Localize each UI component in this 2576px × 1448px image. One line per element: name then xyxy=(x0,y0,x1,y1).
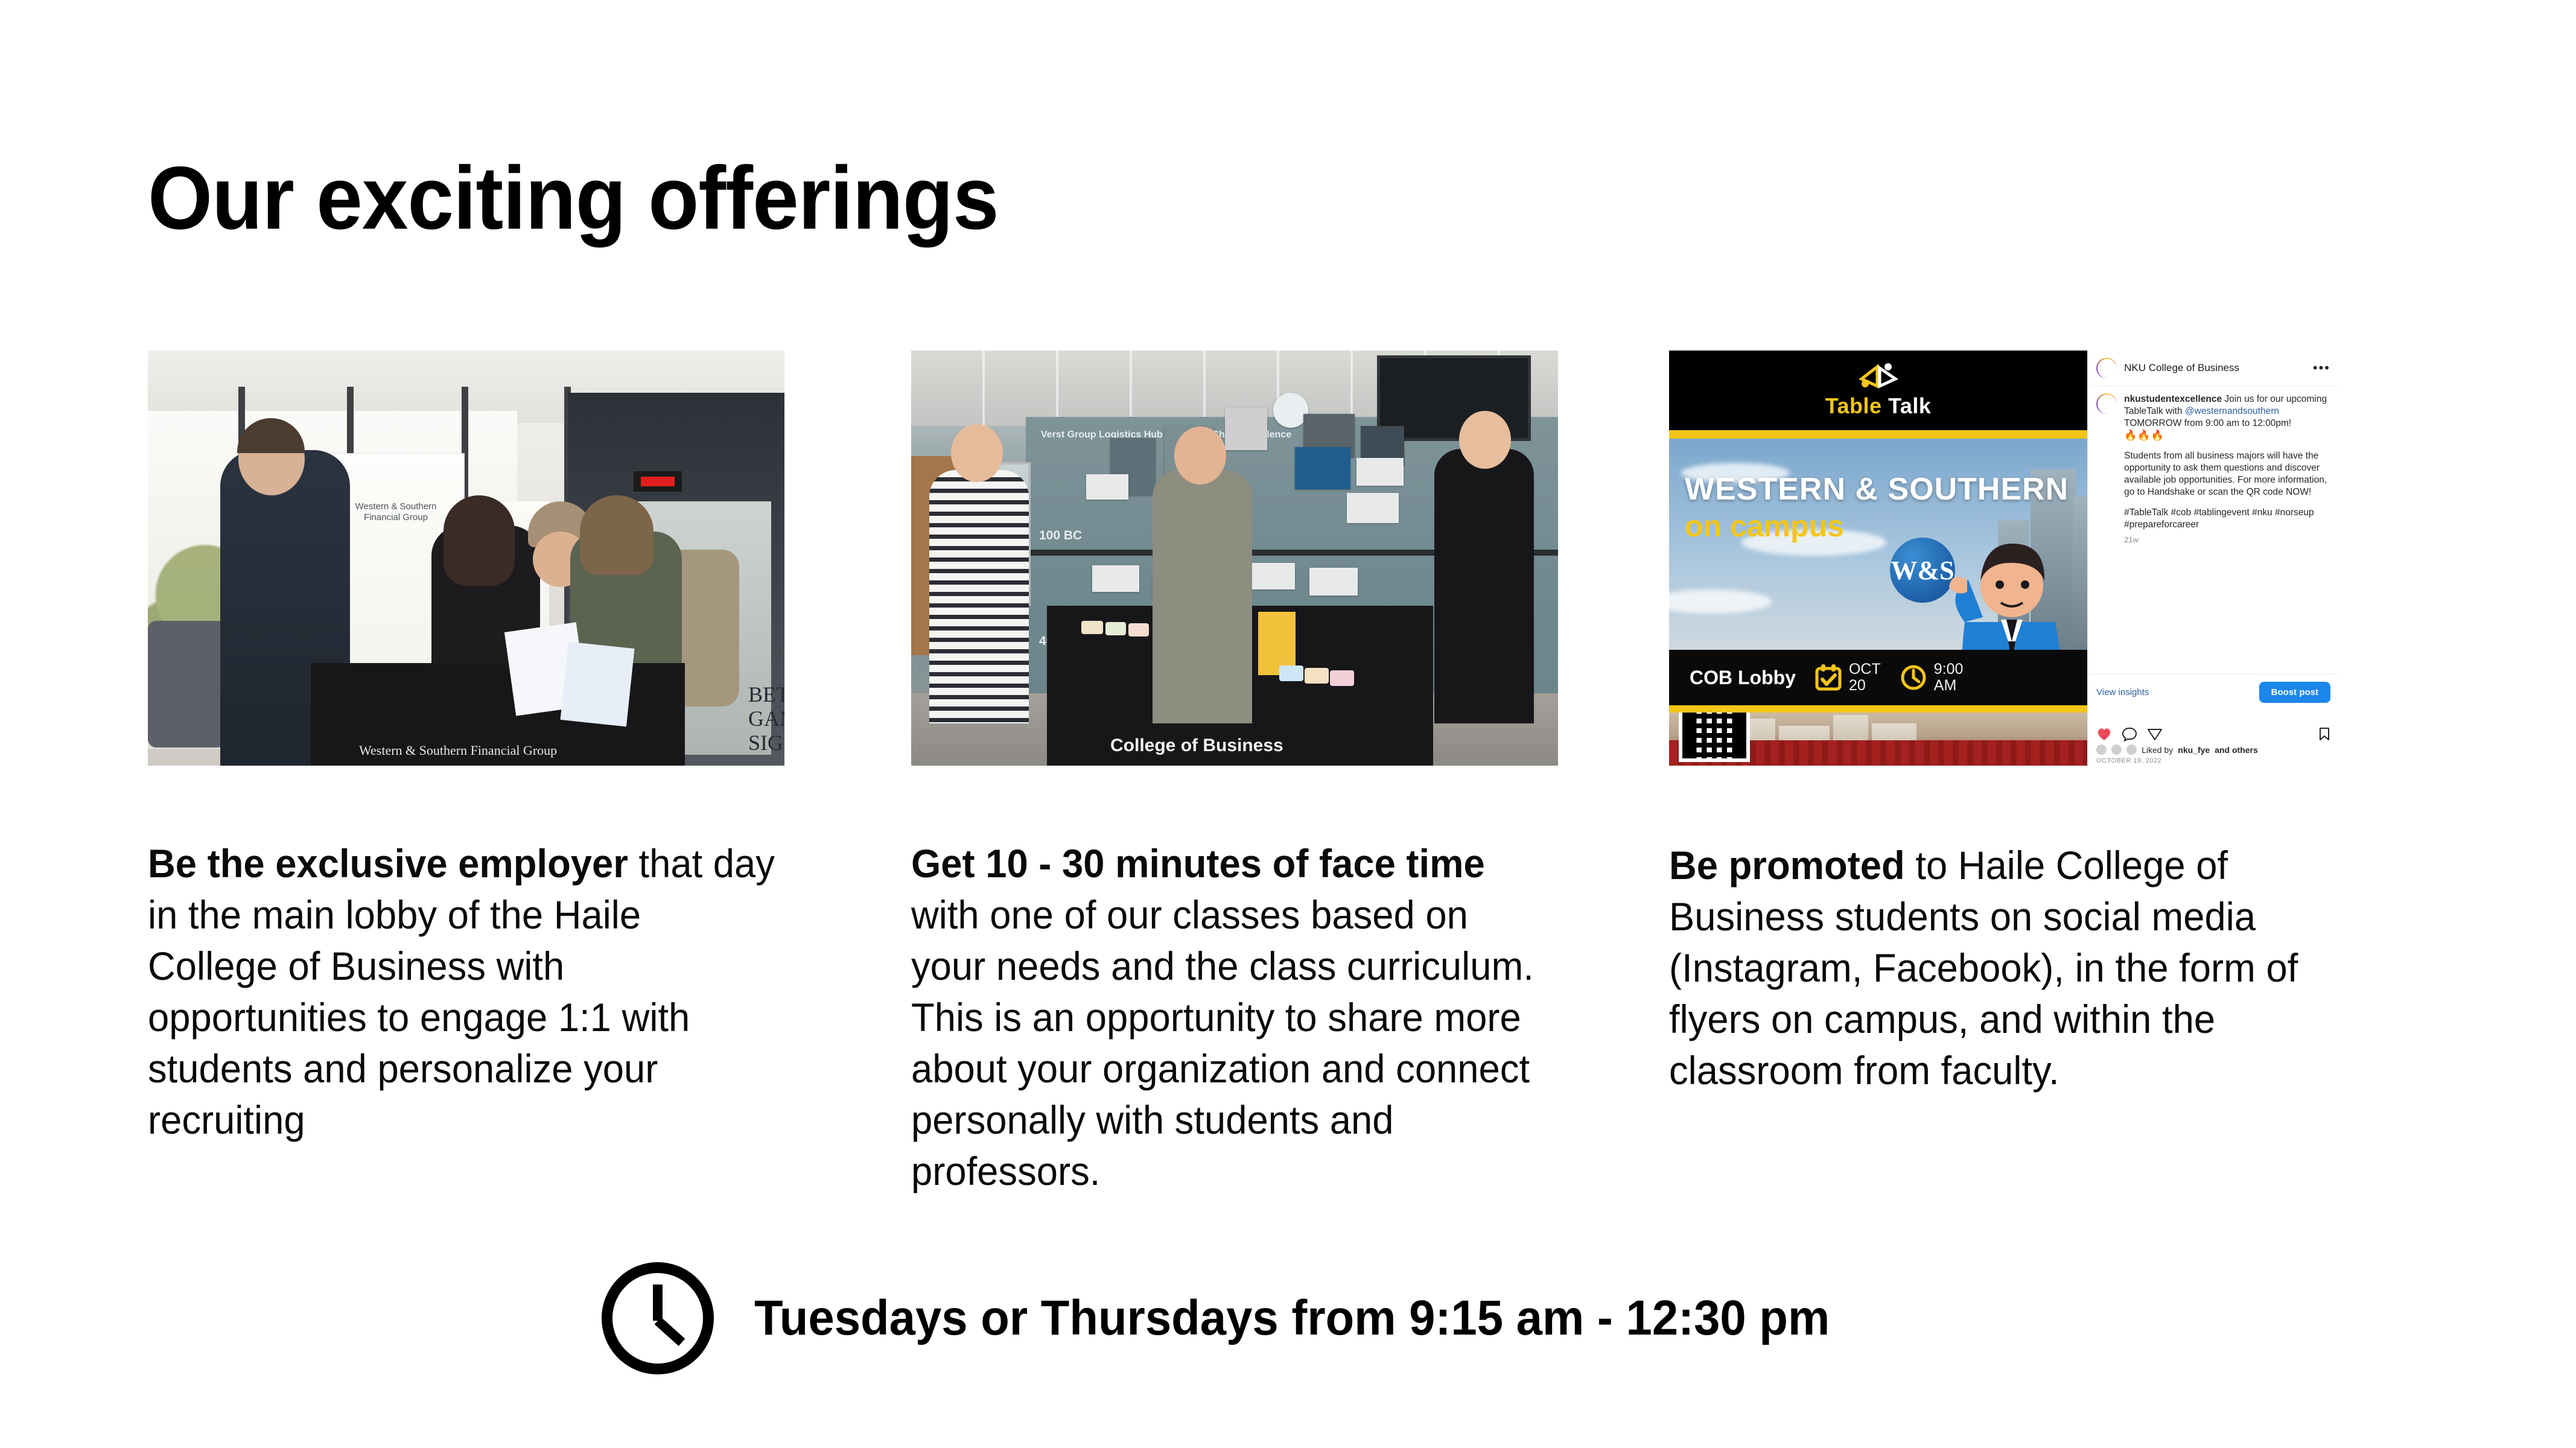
flyer-logo-text: Table Talk xyxy=(1825,393,1932,419)
table-logo-text: Western & Southern Financial Group xyxy=(359,743,557,758)
offering-caption-3: Be promoted to Haile College of Business… xyxy=(1669,840,2353,1096)
offering-column-3: Table Talk WESTERN & SOUTHERN xyxy=(1669,351,2339,1096)
instagram-flyer-screenshot: Table Talk WESTERN & SOUTHERN xyxy=(1669,351,2339,766)
table-talk-logo-icon xyxy=(1857,362,1900,391)
table-talk-flyer: Table Talk WESTERN & SOUTHERN xyxy=(1669,351,2087,766)
instagram-caption-part-2: TOMORROW from 9:00 am to 12:00pm! xyxy=(2124,418,2291,428)
heart-icon[interactable] xyxy=(2096,727,2112,741)
avatar xyxy=(2096,745,2107,755)
flyer-city-photo xyxy=(1669,713,2087,766)
offering-column-2: Verst Group Logistics Hub of Supply Chai… xyxy=(911,351,1558,1197)
instagram-mention[interactable]: @westernandsouthern xyxy=(2185,406,2279,416)
flyer-logo-talk: Talk xyxy=(1888,393,1931,418)
view-insights-link[interactable]: View insights xyxy=(2096,687,2149,697)
instagram-caption-block: nkustudentexcellence Join us for our upc… xyxy=(2088,386,2339,544)
flyer-time-value: 9:00 xyxy=(1934,661,1964,678)
flyer-subhead: on campus xyxy=(1685,509,1844,544)
caption-lead-2: Get 10 - 30 minutes of face time xyxy=(911,841,1485,886)
instagram-post-age: 21w xyxy=(2124,535,2330,544)
calendar-icon xyxy=(1815,664,1842,691)
avatar xyxy=(2096,393,2117,414)
banner-label-2: BETA GAMMA SIGMA xyxy=(748,682,784,755)
avatar xyxy=(2111,745,2122,755)
instagram-insights-row: View insights Boost post xyxy=(2088,674,2339,710)
caption-body-1: that day in the main lobby of the Haile … xyxy=(148,841,775,1142)
instagram-caption: nkustudentexcellence Join us for our upc… xyxy=(2124,393,2330,442)
flyer-date-day: 20 xyxy=(1849,678,1881,694)
flyer-time-period: AM xyxy=(1934,678,1964,694)
clock-icon xyxy=(597,1258,718,1379)
flyer-header: Table Talk xyxy=(1669,351,2087,430)
offering-caption-1: Be the exclusive employer that day in th… xyxy=(148,838,779,1146)
instagram-emojis: 🔥🔥🔥 xyxy=(2124,430,2330,442)
flyer-accent-rule xyxy=(1669,430,2087,439)
classroom-tabling-photo: Verst Group Logistics Hub of Supply Chai… xyxy=(911,351,1558,766)
avatar xyxy=(2096,358,2117,378)
instagram-body-text: Students from all business majors will h… xyxy=(2124,450,2330,498)
flyer-accent-rule-2 xyxy=(1669,705,2087,713)
qr-code xyxy=(1679,713,1750,762)
flyer-date: OCT 20 xyxy=(1849,661,1881,694)
instagram-post-date: OCTOBER 19, 2022 xyxy=(2096,757,2161,764)
tablecloth-text: College of Business xyxy=(1110,735,1283,756)
banner-label: Western & Southern Financial Group xyxy=(339,501,453,523)
more-options-icon[interactable]: ••• xyxy=(2313,365,2330,371)
instagram-post-panel: NKU College of Business ••• nkustudentex… xyxy=(2087,351,2339,766)
share-icon[interactable] xyxy=(2147,727,2163,741)
offering-caption-2: Get 10 - 30 minutes of face time with on… xyxy=(911,838,1548,1197)
flyer-time: 9:00 AM xyxy=(1934,661,1964,694)
flyer-logo-table: Table xyxy=(1825,393,1882,418)
instagram-account-name: NKU College of Business xyxy=(2124,362,2239,374)
page-title: Our exciting offerings xyxy=(148,154,999,243)
slide-canvas: Our exciting offerings Western & xyxy=(0,0,2576,1448)
offering-column-1: Western & Southern Financial Group BETA … xyxy=(148,351,784,1146)
wall-card-erp xyxy=(1347,493,1399,523)
schedule-footer: Tuesdays or Thursdays from 9:15 am - 12:… xyxy=(597,1258,1886,1379)
exit-sign xyxy=(634,471,682,492)
instagram-hashtags[interactable]: #TableTalk #cob #tablingevent #nku #nors… xyxy=(2124,507,2330,531)
bookmark-icon[interactable] xyxy=(2318,727,2330,741)
flyer-info-bar: COB Lobby OCT 20 xyxy=(1669,650,2087,705)
clock-icon xyxy=(1900,664,1927,691)
liked-user[interactable]: nku_fye xyxy=(2178,745,2210,755)
caption-lead-3: Be promoted xyxy=(1669,843,1905,888)
comment-icon[interactable] xyxy=(2122,727,2137,741)
flyer-date-meta: OCT 20 xyxy=(1815,661,1881,694)
liked-prefix: Liked by xyxy=(2142,745,2173,755)
avatar xyxy=(2126,745,2137,755)
career-fair-lobby-photo: Western & Southern Financial Group BETA … xyxy=(148,351,784,766)
boost-post-button[interactable]: Boost post xyxy=(2259,682,2330,703)
flyer-date-month: OCT xyxy=(1849,661,1881,678)
instagram-action-icons xyxy=(2088,727,2339,741)
caption-lead-1: Be the exclusive employer xyxy=(148,841,628,886)
flyer-location: COB Lobby xyxy=(1690,667,1796,689)
instagram-post-user[interactable]: nkustudentexcellence xyxy=(2124,394,2222,404)
flyer-time-meta: 9:00 AM xyxy=(1900,661,1964,694)
schedule-text: Tuesdays or Thursdays from 9:15 am - 12:… xyxy=(754,1294,1830,1343)
caption-body-2: with one of our classes based on your ne… xyxy=(911,892,1534,1193)
instagram-liked-by: Liked by nku_fye and others xyxy=(2096,745,2258,755)
timeline-label: 100 BC xyxy=(1039,529,1082,543)
liked-suffix: and others xyxy=(2215,745,2258,755)
instagram-account-row: NKU College of Business ••• xyxy=(2088,351,2339,386)
